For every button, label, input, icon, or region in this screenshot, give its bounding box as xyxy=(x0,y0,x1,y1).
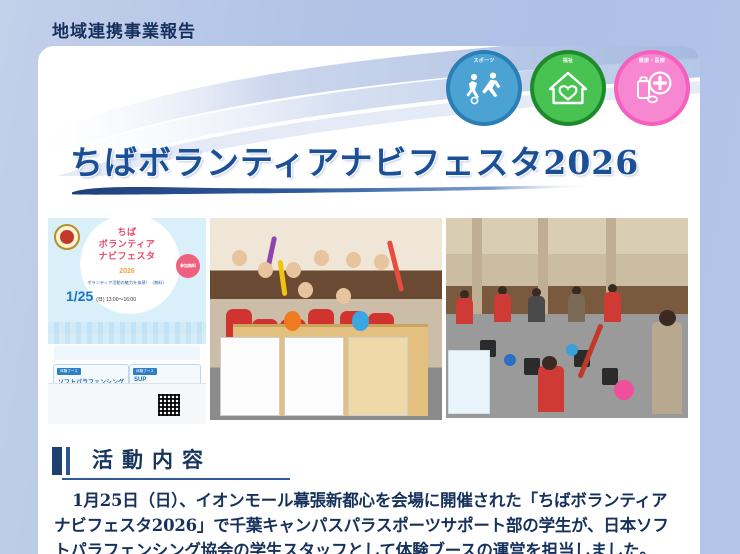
booth-group-photo xyxy=(210,218,442,420)
home-heart-icon-glyph xyxy=(547,69,589,107)
sports-icon: スポーツ xyxy=(450,54,518,122)
home-heart-icon-caption: 福祉 xyxy=(534,57,602,64)
event-poster: ちば ボランティア ナビフェスタ 2026 ボランティア活動の魅力を体感！（無料… xyxy=(48,218,206,424)
poster-subtitle: ボランティア活動の魅力を体感！（無料） xyxy=(48,280,206,286)
poster-badge: 参加無料 xyxy=(176,254,200,278)
brush-underline-svg xyxy=(70,183,600,197)
hall-scene xyxy=(446,218,688,418)
main-title-block: ちばボランティアナビフェスタ2026 xyxy=(70,146,670,197)
heading-accent-bar-thin xyxy=(66,447,70,475)
poster-artwork: ちば ボランティア ナビフェスタ 2026 ボランティア活動の魅力を体感！（無料… xyxy=(48,218,206,424)
category-icon-row: スポーツ 福祉 健康・医療 xyxy=(450,54,686,122)
home-heart-icon: 福祉 xyxy=(534,54,602,122)
medical-icon-caption: 健康・医療 xyxy=(618,57,686,64)
content-panel: スポーツ 福祉 健康・医療 xyxy=(38,46,700,554)
poster-qr-code xyxy=(158,394,180,416)
poster-city-illustration xyxy=(48,322,206,344)
ball-blue xyxy=(504,354,516,366)
medical-icon-glyph xyxy=(630,70,674,106)
poster-date: 1/25(日) 13:00〜16:00 xyxy=(66,288,136,304)
brush-underline xyxy=(70,183,600,197)
venue-activity-photo xyxy=(446,218,688,418)
ball-lightblue xyxy=(566,344,578,356)
sports-icon-caption: スポーツ xyxy=(450,57,518,64)
booth-scene xyxy=(210,218,442,420)
heading-accent-bar-thick xyxy=(52,447,62,475)
section-heading: 活動内容 xyxy=(92,444,212,475)
heading-underline xyxy=(62,478,290,480)
booth-board-3 xyxy=(348,337,408,416)
ball-pink xyxy=(614,380,634,400)
balloon-orange xyxy=(284,311,301,331)
poster-footer xyxy=(48,383,206,424)
medical-icon: 健康・医療 xyxy=(618,54,686,122)
poster-note-band xyxy=(54,346,200,360)
body-paragraph: 1月25日（日）、イオンモール幕張新都心を会場に開催された「ちばボランティアナビ… xyxy=(54,488,682,554)
info-board xyxy=(448,350,490,414)
booth-board-2 xyxy=(284,337,344,416)
sports-icon-glyph xyxy=(462,71,506,105)
booth-board-1 xyxy=(220,337,280,416)
section-heading-block: 活動内容 xyxy=(52,444,672,480)
document-header-label: 地域連携事業報告 xyxy=(52,17,196,42)
balloon-blue xyxy=(352,311,369,331)
page-title: ちばボランティアナビフェスタ2026 xyxy=(70,146,670,181)
photo-strip: ちば ボランティア ナビフェスタ 2026 ボランティア活動の魅力を体感！（無料… xyxy=(48,218,698,426)
